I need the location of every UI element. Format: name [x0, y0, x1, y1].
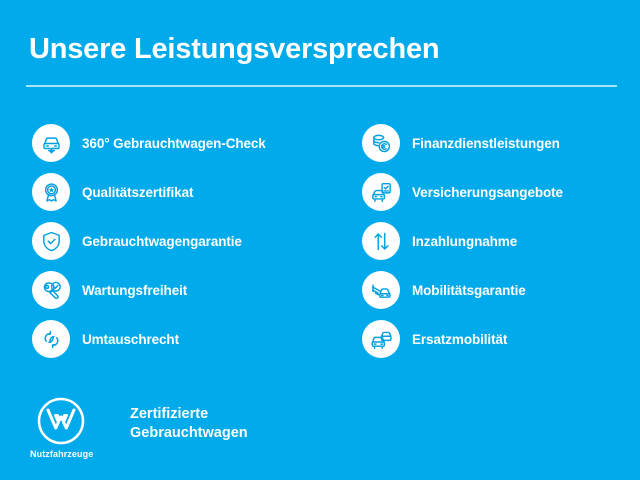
brand-claim-line-2: Gebrauchtwagen: [130, 424, 248, 443]
up-down-arrows-icon: [362, 222, 400, 260]
car-inspection-icon: [32, 124, 70, 162]
benefit-label: Gebrauchtwagengarantie: [82, 234, 242, 249]
brand-mark: Nutzfahrzeuge: [30, 396, 92, 459]
benefit-item-inzahlungnahme[interactable]: Inzahlungnahme: [362, 222, 632, 260]
brand-lockup: Nutzfahrzeuge Zertifizierte Gebrauchtwag…: [30, 396, 248, 459]
coins-euro-icon: [362, 124, 400, 162]
benefits-column-left: 360° Gebrauchtwagen-Check Qualitätszerti…: [32, 124, 332, 369]
award-rosette-icon: [32, 173, 70, 211]
benefit-item-mobilitaetsgarantie[interactable]: Mobilitätsgarantie: [362, 271, 632, 309]
tow-truck-icon: [362, 271, 400, 309]
benefit-label: Mobilitätsgarantie: [412, 283, 526, 298]
benefits-column-right: Finanzdienstleistungen Versicherungsange…: [362, 124, 632, 369]
benefit-label: Inzahlungnahme: [412, 234, 517, 249]
benefit-label: Wartungsfreiheit: [82, 283, 187, 298]
benefit-label: Versicherungsangebote: [412, 185, 563, 200]
two-cars-icon: [362, 320, 400, 358]
benefit-item-gebrauchtwagen-check[interactable]: 360° Gebrauchtwagen-Check: [32, 124, 332, 162]
benefit-item-gebrauchtwagengarantie[interactable]: Gebrauchtwagengarantie: [32, 222, 332, 260]
shield-check-icon: [32, 222, 70, 260]
benefit-item-umtauschrecht[interactable]: Umtauschrecht: [32, 320, 332, 358]
brand-claim: Zertifizierte Gebrauchtwagen: [130, 405, 248, 442]
benefit-label: Finanzdienstleistungen: [412, 136, 560, 151]
benefit-item-finanzdienstleistungen[interactable]: Finanzdienstleistungen: [362, 124, 632, 162]
benefit-label: 360° Gebrauchtwagen-Check: [82, 136, 266, 151]
brand-claim-line-1: Zertifizierte: [130, 405, 248, 424]
benefit-item-versicherungsangebote[interactable]: Versicherungsangebote: [362, 173, 632, 211]
benefit-label: Ersatzmobilität: [412, 332, 507, 347]
page-title: Unsere Leistungsversprechen: [29, 33, 439, 66]
brand-sub-label: Nutzfahrzeuge: [30, 449, 92, 459]
benefit-item-wartungsfreiheit[interactable]: Wartungsfreiheit: [32, 271, 332, 309]
benefit-item-qualitaetszertifikat[interactable]: Qualitätszertifikat: [32, 173, 332, 211]
benefit-item-ersatzmobilitaet[interactable]: Ersatzmobilität: [362, 320, 632, 358]
exchange-arrows-icon: [32, 320, 70, 358]
slide-root: Unsere Leistungsversprechen 360° Gebrauc…: [0, 0, 640, 480]
car-document-check-icon: [362, 173, 400, 211]
benefit-label: Qualitätszertifikat: [82, 185, 193, 200]
benefit-label: Umtauschrecht: [82, 332, 179, 347]
vw-logo-icon: [36, 396, 86, 446]
title-divider: [26, 85, 617, 87]
wrench-check-icon: [32, 271, 70, 309]
